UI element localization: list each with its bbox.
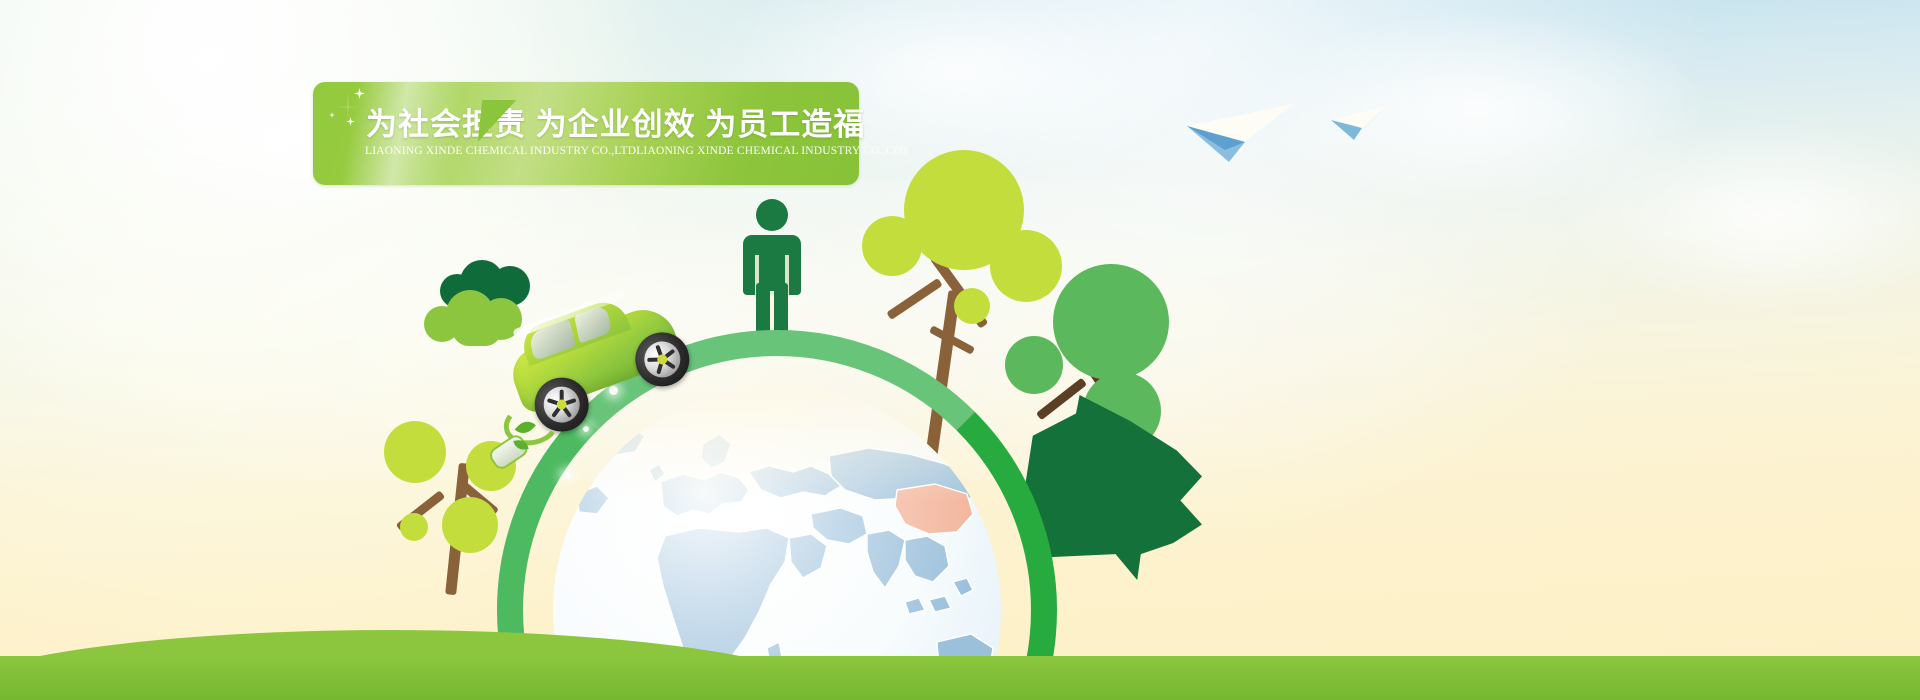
tree-foliage (442, 497, 498, 553)
speech-bubble-tail (478, 100, 516, 142)
person-head (756, 199, 788, 231)
paper-plane-icon (1330, 104, 1392, 142)
tree-foliage (400, 513, 428, 541)
sparkle-icon (354, 88, 365, 99)
sparkle-icon (329, 112, 335, 118)
sparkle-icon (335, 92, 361, 122)
tree-foliage (1053, 264, 1169, 380)
headline-banner: 为社会担责 为企业创效 为员工造福 LIAONING XINDE CHEMICA… (313, 82, 859, 185)
tree-foliage (954, 288, 990, 324)
person-torso (743, 235, 801, 295)
tree-branch (886, 278, 942, 320)
tree-foliage (384, 421, 446, 483)
ground-strip (0, 656, 1920, 700)
sparkle-icon (346, 117, 355, 126)
banner-subtitle: LIAONING XINDE CHEMICAL INDUSTRY CO.,LTD… (365, 145, 855, 157)
person-pictogram-icon (743, 199, 801, 349)
tree-foliage (862, 216, 922, 276)
paper-plane-icon (1185, 98, 1305, 168)
banner-canvas: 为社会担责 为企业创效 为员工造福 LIAONING XINDE CHEMICA… (0, 0, 1920, 700)
banner-headline: 为社会担责 为企业创效 为员工造福 (366, 99, 836, 144)
